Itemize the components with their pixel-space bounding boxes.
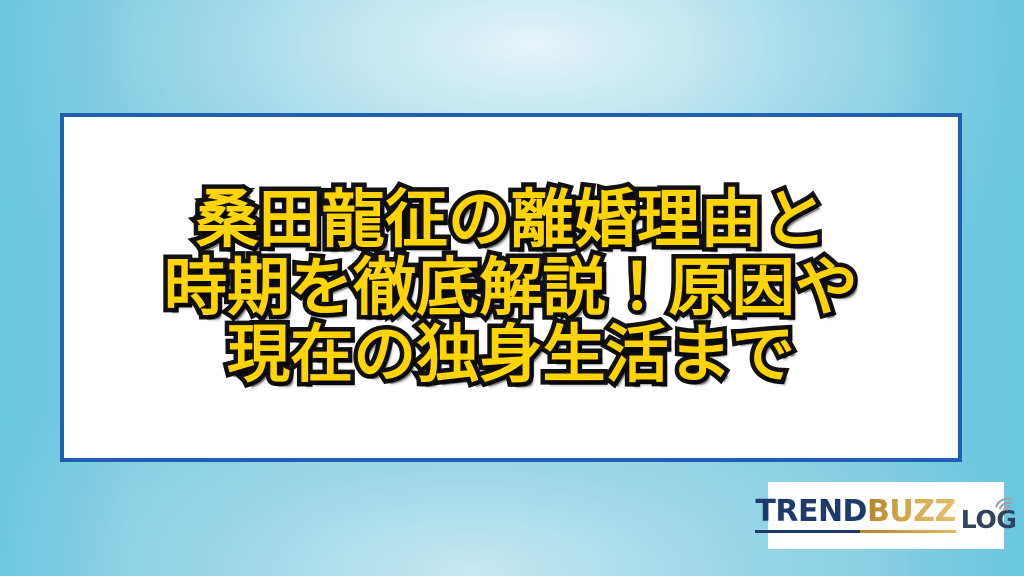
headline-line-1: 桑田龍征の離婚理由と	[64, 186, 958, 254]
logo-inner: TREND BUZZ LOG	[755, 497, 1016, 533]
wifi-signal-icon	[994, 489, 1020, 511]
logo-wordmark: TREND BUZZ	[755, 497, 955, 533]
logo-underline-navy	[755, 530, 859, 533]
logo-log-wrapper: LOG	[961, 507, 1017, 533]
headline-line-3: 現在の独身生活まで	[64, 321, 958, 389]
title-card: 桑田龍征の離婚理由と 時期を徹底解説！原因や 現在の独身生活まで	[60, 113, 962, 462]
logo-text-trend: TREND	[755, 497, 867, 527]
logo-underline-gold	[860, 530, 956, 533]
brand-logo: TREND BUZZ LOG	[768, 482, 1004, 549]
thumbnail-canvas: 桑田龍征の離婚理由と 時期を徹底解説！原因や 現在の独身生活まで TREND B…	[0, 0, 1024, 576]
logo-words: TREND BUZZ	[755, 497, 955, 527]
page-title: 桑田龍征の離婚理由と 時期を徹底解説！原因や 現在の独身生活まで	[64, 186, 958, 389]
logo-text-buzz: BUZZ	[867, 497, 956, 527]
headline-line-2: 時期を徹底解説！原因や	[64, 254, 958, 322]
logo-underline	[755, 530, 955, 533]
